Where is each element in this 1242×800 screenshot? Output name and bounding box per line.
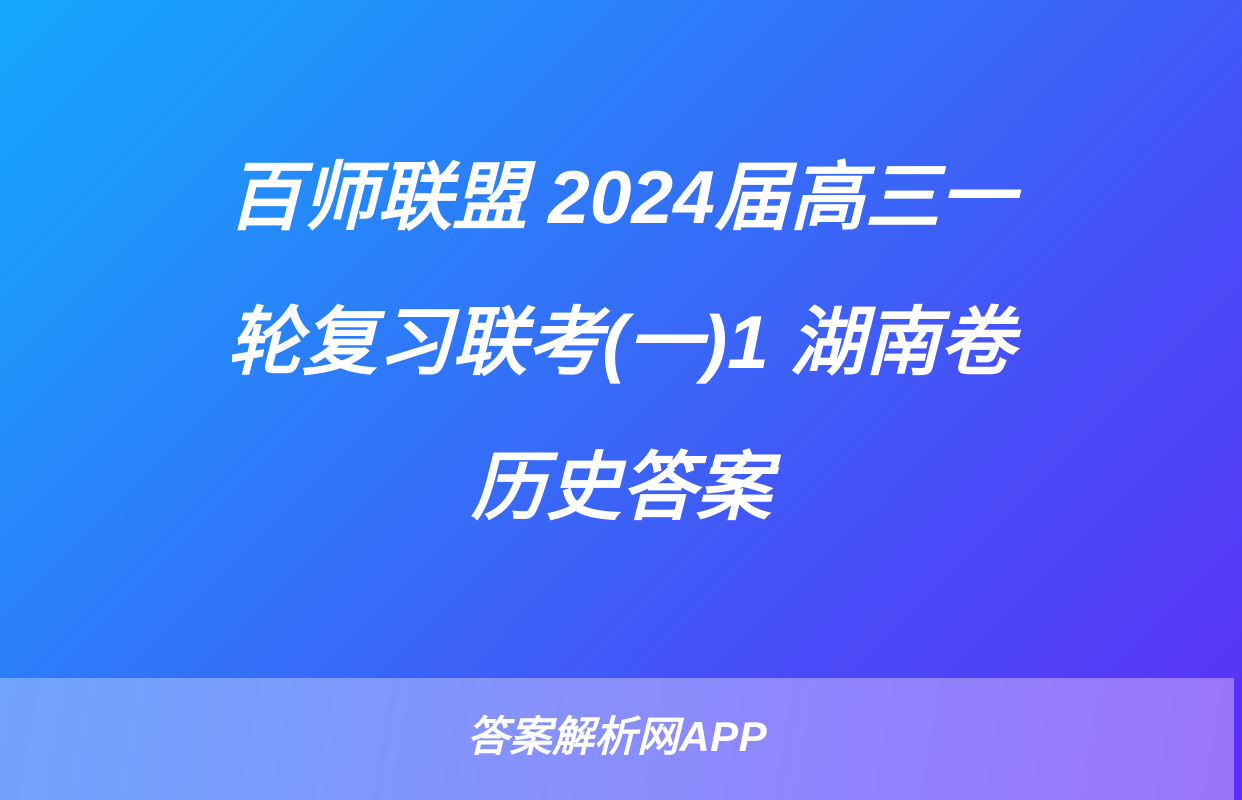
headline-line-2: 轮复习联考(一)1 湖南卷 bbox=[61, 270, 1181, 415]
headline-block: 百师联盟 2024届高三一 轮复习联考(一)1 湖南卷 历史答案 bbox=[0, 0, 1242, 678]
headline-line-1: 百师联盟 2024届高三一 bbox=[61, 125, 1181, 270]
app-promo-banner: 答案解析网APP bbox=[0, 678, 1234, 800]
banner-right-edge-strip bbox=[1234, 678, 1242, 800]
headline-line-3: 历史答案 bbox=[61, 415, 1181, 560]
poster-canvas: 百师联盟 2024届高三一 轮复习联考(一)1 湖南卷 历史答案 答案解析网AP… bbox=[0, 0, 1242, 800]
app-promo-banner-label: 答案解析网APP bbox=[467, 715, 767, 759]
